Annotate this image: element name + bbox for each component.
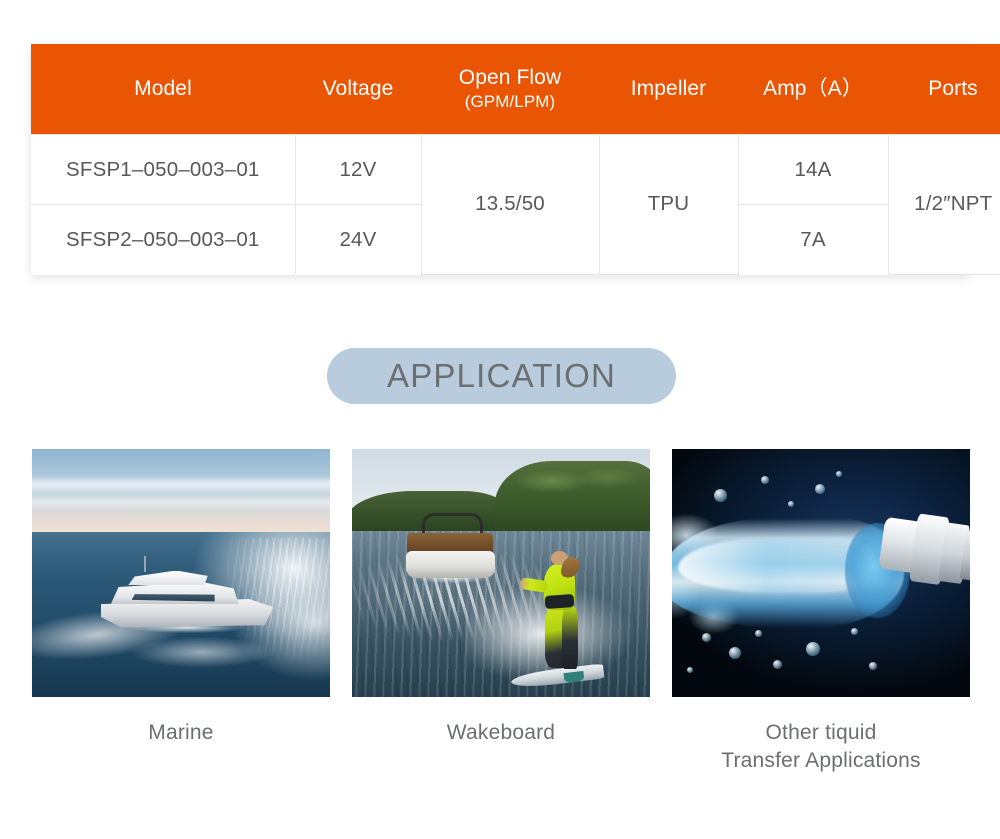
table-body: SFSP1–050–003–01 12V 13.5/50 TPU 14A 1/2…	[31, 135, 1000, 275]
water-transfer-photo	[672, 449, 970, 697]
application-caption-wakeboard: Wakeboard	[352, 719, 650, 747]
wakeboard-photo	[352, 449, 650, 697]
cloud-band-secondary	[32, 496, 330, 508]
spec-table-container: Model Voltage Open Flow (GPM/LPM) Impell…	[31, 44, 970, 275]
marine-yacht-photo	[32, 449, 330, 697]
application-cards: Marine	[32, 449, 972, 776]
cell-open-flow: 13.5/50	[421, 135, 599, 275]
cell-model: SFSP1–050–003–01	[31, 135, 295, 205]
column-header-amp-label: Amp（A）	[763, 77, 863, 100]
cell-voltage: 24V	[295, 205, 421, 275]
column-header-ports: Ports	[888, 44, 1000, 135]
column-header-voltage: Voltage	[295, 44, 421, 135]
cell-impeller: TPU	[599, 135, 738, 275]
cell-amp: 7A	[738, 205, 888, 275]
table-header: Model Voltage Open Flow (GPM/LPM) Impell…	[31, 44, 1000, 135]
application-card-wakeboard: Wakeboard	[352, 449, 650, 776]
table-header-row: Model Voltage Open Flow (GPM/LPM) Impell…	[31, 44, 1000, 135]
boat-hull	[406, 551, 495, 578]
cell-amp: 14A	[738, 135, 888, 205]
application-banner: APPLICATION	[327, 348, 676, 404]
caption-line-1: Other tiquid	[672, 719, 970, 747]
yacht-flybridge	[125, 571, 208, 586]
application-banner-title: APPLICATION	[387, 357, 616, 395]
yacht-mast	[144, 556, 146, 572]
water-droplet	[714, 489, 727, 502]
caption-line-2: Transfer Applications	[672, 747, 970, 775]
wake-boat	[406, 513, 495, 577]
surfer-leg-back	[562, 607, 577, 669]
yacht	[101, 566, 274, 628]
surfer-waist	[545, 594, 575, 609]
hose-fitting	[876, 506, 970, 600]
table-row: SFSP1–050–003–01 12V 13.5/50 TPU 14A 1/2…	[31, 135, 1000, 205]
application-caption-liquid-transfer: Other tiquid Transfer Applications	[672, 719, 970, 776]
treeline-right	[495, 461, 650, 538]
application-card-liquid-transfer: Other tiquid Transfer Applications	[672, 449, 970, 776]
application-caption-marine: Marine	[32, 719, 330, 747]
column-header-model: Model	[31, 44, 295, 135]
column-header-voltage-label: Voltage	[323, 77, 394, 100]
water-droplet	[851, 628, 858, 635]
column-header-model-label: Model	[134, 77, 192, 100]
specification-table: Model Voltage Open Flow (GPM/LPM) Impell…	[31, 44, 1000, 275]
cell-voltage: 12V	[295, 135, 421, 205]
water-droplet	[702, 633, 711, 642]
cell-ports: 1/2″NPT	[888, 135, 1000, 275]
column-header-open-flow-label: Open Flow	[459, 66, 561, 89]
cell-model: SFSP2–050–003–01	[31, 205, 295, 275]
column-header-ports-label: Ports	[928, 77, 978, 100]
water-droplet	[869, 662, 877, 670]
application-card-marine: Marine	[32, 449, 330, 776]
column-header-open-flow-units: (GPM/LPM)	[425, 91, 595, 113]
column-header-impeller: Impeller	[599, 44, 738, 135]
column-header-impeller-label: Impeller	[631, 77, 707, 100]
column-header-amp: Amp（A）	[738, 44, 888, 135]
column-header-open-flow: Open Flow (GPM/LPM)	[421, 44, 599, 135]
water-droplet	[815, 484, 825, 494]
wakesurfer	[519, 551, 596, 680]
water-droplet	[729, 647, 741, 659]
cloud-band	[32, 476, 330, 493]
